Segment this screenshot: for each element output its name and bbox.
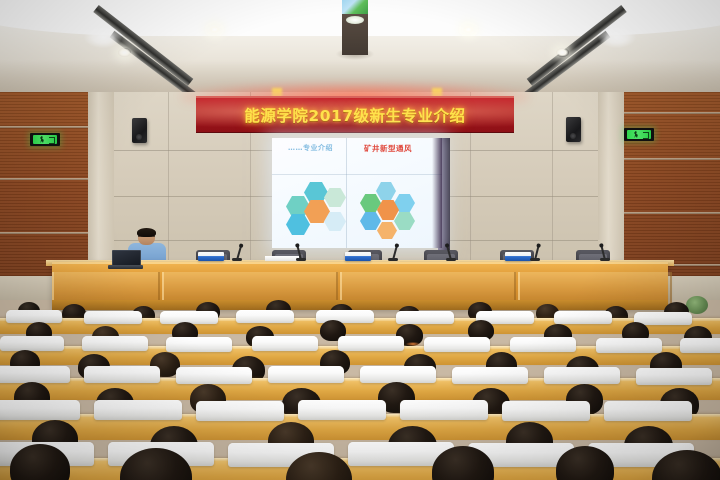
seat-cushion [268,366,344,383]
slide-title-right: 矿井新型通风 [364,143,412,154]
microphone-base [296,258,306,261]
slide-hexagon [394,212,415,230]
seat-cushion [94,400,182,420]
desk-papers [265,256,299,261]
seat-cushion [510,337,576,352]
seat-cushion [0,336,64,351]
seat-cushion [298,400,386,420]
seat-cushion [166,337,232,352]
projector-lens-icon [346,16,364,24]
seat-cushion [360,366,436,383]
desk-blue-box [505,252,531,261]
seat-cushion [338,336,404,351]
microphone-base [446,258,456,261]
screen-seam [272,174,442,175]
slide-hexagon [286,214,310,235]
seat-cushion [596,338,662,353]
desk-blue-box [198,252,224,261]
slide-title-left: ……专业介绍 [288,143,333,153]
event-banner: 能源学院2017级新生专业介绍 [196,96,514,133]
seat-cushion [0,366,70,383]
seat-cushion [400,400,488,420]
slide-hexagon [377,222,397,239]
downlight-icon [118,48,131,57]
seat-cushion [236,310,294,323]
seat-cushion [196,401,284,421]
downlight-icon [208,25,221,34]
slide-hexagon [376,182,396,200]
seat-cushion [502,401,590,421]
seat-cushion [554,311,612,324]
seat-cushion [452,367,528,384]
audience-seating [0,296,720,480]
screen-edge-shadow [432,138,442,248]
seat-cushion [680,338,720,353]
wall-trim [608,212,720,214]
desk-blue-box [345,252,371,261]
exit-running-man-icon [627,130,651,139]
microphone-base [600,258,610,261]
slide-hexagon [360,212,381,230]
banner-title-text: 能源学院2017级新生专业介绍 [244,104,465,126]
downlight-icon [462,25,475,34]
projection-screen: ……专业介绍 矿井新型通风 [272,138,442,248]
seat-cushion [604,401,692,421]
seat-cushion [84,366,160,383]
microphone-base [232,258,242,261]
screen-seam [346,138,347,248]
wall-speaker [132,118,147,143]
exit-running-man-icon [33,135,57,144]
auditorium-photo: 能源学院2017级新生专业介绍 ……专业介绍 矿井新型通风 [0,0,720,480]
microphone-base [530,258,540,261]
wall-trim [608,112,720,114]
beam-light-glow [598,26,636,48]
microphone-base [388,258,398,261]
seat-cushion [0,400,80,420]
slide-hexagon [324,188,346,207]
seat-cushion [544,367,620,384]
downlight-icon [556,48,569,57]
wall-trim [608,158,720,160]
seat-cushion [6,310,62,323]
emergency-exit-sign-left [30,133,60,146]
seat-cushion [82,336,148,351]
seat-cushion [636,368,712,385]
presenter-laptop-base [108,265,143,269]
slide-hexagon [304,182,328,203]
seat-cushion [252,336,318,351]
seat-cushion [176,367,252,384]
presenter-hair [137,228,156,237]
seat-cushion [396,311,454,324]
emergency-exit-sign-right [624,128,654,141]
projector-top-panel [342,0,368,14]
seat-cushion [84,311,142,324]
wall-speaker [566,117,581,142]
beam-light-glow [84,26,122,48]
seat-cushion [424,337,490,352]
